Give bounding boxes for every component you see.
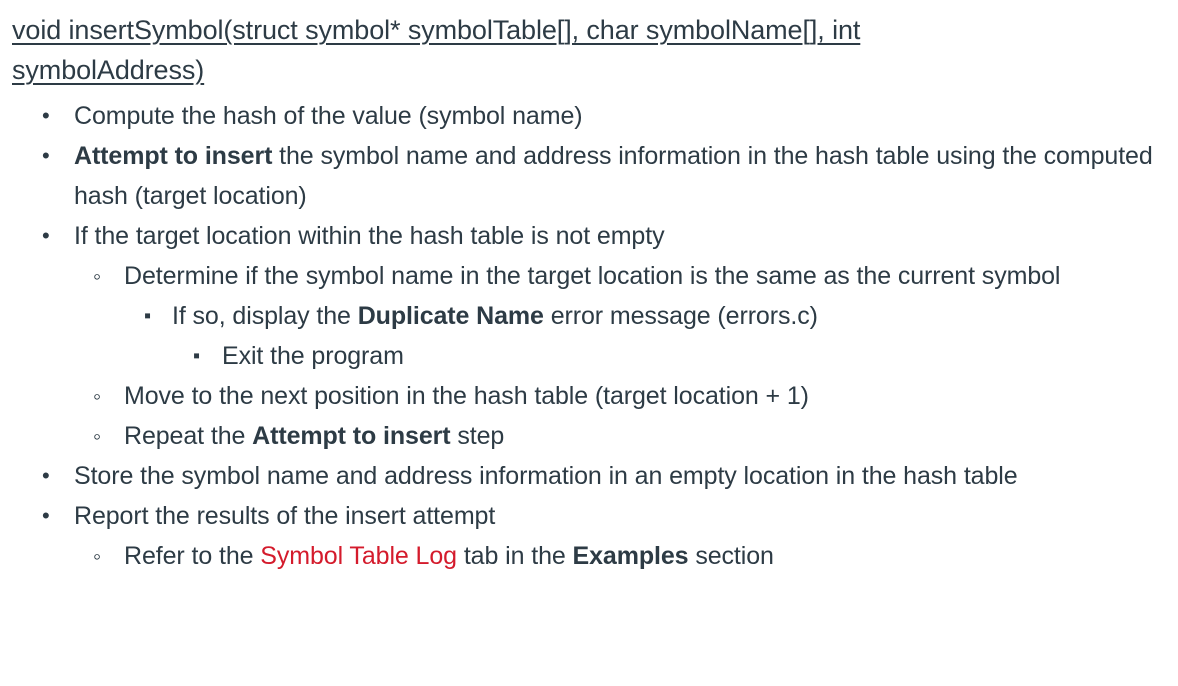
list-item: Store the symbol name and address inform… [74, 456, 1159, 496]
document-page: void insertSymbol(struct symbol* symbolT… [0, 0, 1178, 686]
page-title: void insertSymbol(struct symbol* symbolT… [12, 10, 1022, 90]
list-item-text: Report the results of the insert attempt [74, 496, 1159, 536]
list-item-text: Compute the hash of the value (symbol na… [74, 96, 1159, 136]
list-item-text: If the target location within the hash t… [74, 216, 1159, 256]
text-after: step [450, 422, 504, 450]
list-item: Refer to the Symbol Table Log tab in the… [124, 536, 1159, 576]
outline-sublist: Determine if the symbol name in the targ… [74, 256, 1159, 456]
bold-run: Examples [573, 542, 689, 570]
text-before: Repeat the [124, 422, 252, 450]
outline-sublist: Refer to the Symbol Table Log tab in the… [74, 536, 1159, 576]
list-item: Repeat the Attempt to insert step [124, 416, 1159, 456]
list-item-text: Repeat the Attempt to insert step [124, 416, 1159, 456]
text-after: error message (errors.c) [544, 302, 818, 330]
list-item-text: Refer to the Symbol Table Log tab in the… [124, 536, 1159, 576]
list-item-text: If so, display the Duplicate Name error … [172, 296, 1159, 336]
bold-run: Duplicate Name [358, 302, 544, 330]
list-item: Determine if the symbol name in the targ… [124, 256, 1159, 376]
list-item: Exit the program [222, 336, 1159, 376]
list-item: If the target location within the hash t… [74, 216, 1159, 456]
outline-sublist: If so, display the Duplicate Name error … [124, 296, 1159, 376]
bold-run: Attempt to insert [252, 422, 450, 450]
list-item: Move to the next position in the hash ta… [124, 376, 1159, 416]
symbol-table-log-reference: Symbol Table Log [260, 542, 457, 570]
bold-run: Attempt to insert [74, 142, 272, 170]
text-before: If so, display the [172, 302, 358, 330]
list-item-text: Move to the next position in the hash ta… [124, 376, 1159, 416]
outline-list: Compute the hash of the value (symbol na… [12, 96, 1164, 576]
list-item: Compute the hash of the value (symbol na… [74, 96, 1159, 136]
outline-sublist: Exit the program [172, 336, 1159, 376]
list-item-text: Exit the program [222, 336, 1159, 376]
list-item-text: Determine if the symbol name in the targ… [124, 256, 1159, 296]
text-middle: tab in the [457, 542, 573, 570]
page-title-line-2: symbolAddress) [12, 55, 204, 85]
list-item: If so, display the Duplicate Name error … [172, 296, 1159, 376]
list-item: Report the results of the insert attempt… [74, 496, 1159, 576]
list-item-text: Attempt to insert the symbol name and ad… [74, 136, 1159, 216]
text-before: Refer to the [124, 542, 260, 570]
page-title-line-1: void insertSymbol(struct symbol* symbolT… [12, 15, 860, 45]
list-item-text: Store the symbol name and address inform… [74, 456, 1159, 496]
list-item: Attempt to insert the symbol name and ad… [74, 136, 1159, 216]
text-after: section [688, 542, 773, 570]
